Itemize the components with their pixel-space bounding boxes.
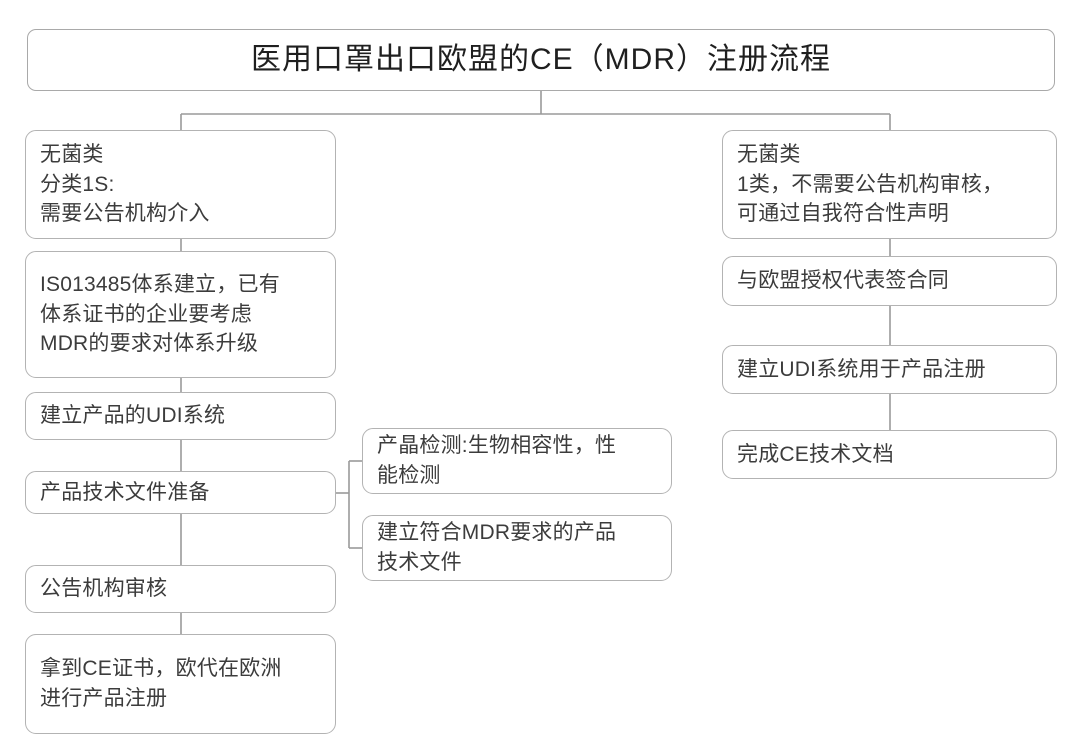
node-text: 拿到CE证书，欧代在欧洲 进行产品注册 (40, 654, 282, 714)
node-text: 建立UDI系统用于产品注册 (737, 355, 986, 385)
node-text: 建立产品的UDI系统 (40, 401, 225, 431)
node-right-sterile-class-1[interactable]: 无菌类 1类，不需要公告机构审核， 可通过自我符合性声明 (722, 130, 1057, 239)
node-text: IS013485体系建立，已有 体系证书的企业要考虑 MDR的要求对体系升级 (40, 270, 280, 359)
node-mid-mdr-technical-file[interactable]: 建立符合MDR要求的产品 技术文件 (362, 515, 672, 581)
node-text: 与欧盟授权代表签合同 (737, 266, 949, 296)
node-right-udi-system[interactable]: 建立UDI系统用于产品注册 (722, 345, 1057, 394)
node-text: 建立符合MDR要求的产品 技术文件 (377, 518, 616, 578)
node-left-iso13485-system[interactable]: IS013485体系建立，已有 体系证书的企业要考虑 MDR的要求对体系升级 (25, 251, 336, 378)
flowchart-title-box: 医用口罩出口欧盟的CE（MDR）注册流程 (27, 29, 1055, 91)
node-mid-product-testing[interactable]: 产晶检测:生物相容性，性 能检测 (362, 428, 672, 494)
node-right-ec-rep-contract[interactable]: 与欧盟授权代表签合同 (722, 256, 1057, 306)
flowchart-title-text: 医用口罩出口欧盟的CE（MDR）注册流程 (251, 39, 831, 82)
node-text: 产晶检测:生物相容性，性 能检测 (377, 431, 616, 491)
node-left-ce-certificate-registration[interactable]: 拿到CE证书，欧代在欧洲 进行产品注册 (25, 634, 336, 734)
node-text: 无菌类 1类，不需要公告机构审核， 可通过自我符合性声明 (737, 140, 1003, 229)
node-left-technical-file-prep[interactable]: 产品技术文件准备 (25, 471, 336, 514)
node-right-ce-technical-documentation[interactable]: 完成CE技术文档 (722, 430, 1057, 479)
flowchart-canvas: 医用口罩出口欧盟的CE（MDR）注册流程 无菌类 分类1S: 需要公告机构介入 … (0, 0, 1080, 753)
node-text: 无菌类 分类1S: 需要公告机构介入 (40, 140, 210, 229)
node-text: 产品技术文件准备 (40, 478, 210, 508)
node-left-product-udi-system[interactable]: 建立产品的UDI系统 (25, 392, 336, 440)
node-left-sterile-class-1s[interactable]: 无菌类 分类1S: 需要公告机构介入 (25, 130, 336, 239)
node-left-notified-body-audit[interactable]: 公告机构审核 (25, 565, 336, 613)
node-text: 公告机构审核 (40, 574, 167, 604)
node-text: 完成CE技术文档 (737, 440, 894, 470)
